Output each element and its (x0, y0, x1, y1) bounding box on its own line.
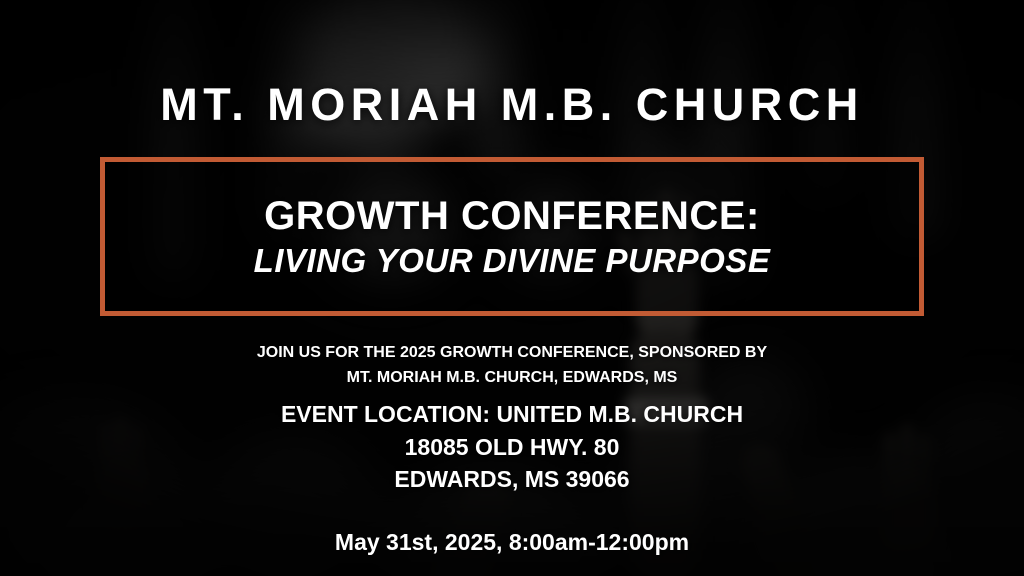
event-blurb: JOIN US FOR THE 2025 GROWTH CONFERENCE, … (0, 341, 1024, 391)
venue-line-2: 18085 OLD HWY. 80 (0, 431, 1024, 464)
event-flyer: MT. MORIAH M.B. CHURCH GROWTH CONFERENCE… (0, 0, 1024, 576)
blurb-line-1: JOIN US FOR THE 2025 GROWTH CONFERENCE, … (0, 341, 1024, 366)
headline-subtitle: LIVING YOUR DIVINE PURPOSE (254, 242, 771, 280)
headline-box: GROWTH CONFERENCE: LIVING YOUR DIVINE PU… (100, 157, 924, 316)
event-datetime: May 31st, 2025, 8:00am-12:00pm (0, 529, 1024, 557)
venue-line-3: EDWARDS, MS 39066 (0, 463, 1024, 496)
event-venue: EVENT LOCATION: UNITED M.B. CHURCH 18085… (0, 398, 1024, 496)
flyer-content: MT. MORIAH M.B. CHURCH GROWTH CONFERENCE… (0, 0, 1024, 576)
organization-title: MT. MORIAH M.B. CHURCH (0, 82, 1024, 127)
headline-main: GROWTH CONFERENCE: (264, 194, 760, 238)
blurb-line-2: MT. MORIAH M.B. CHURCH, EDWARDS, MS (0, 366, 1024, 391)
venue-line-1: EVENT LOCATION: UNITED M.B. CHURCH (0, 398, 1024, 431)
